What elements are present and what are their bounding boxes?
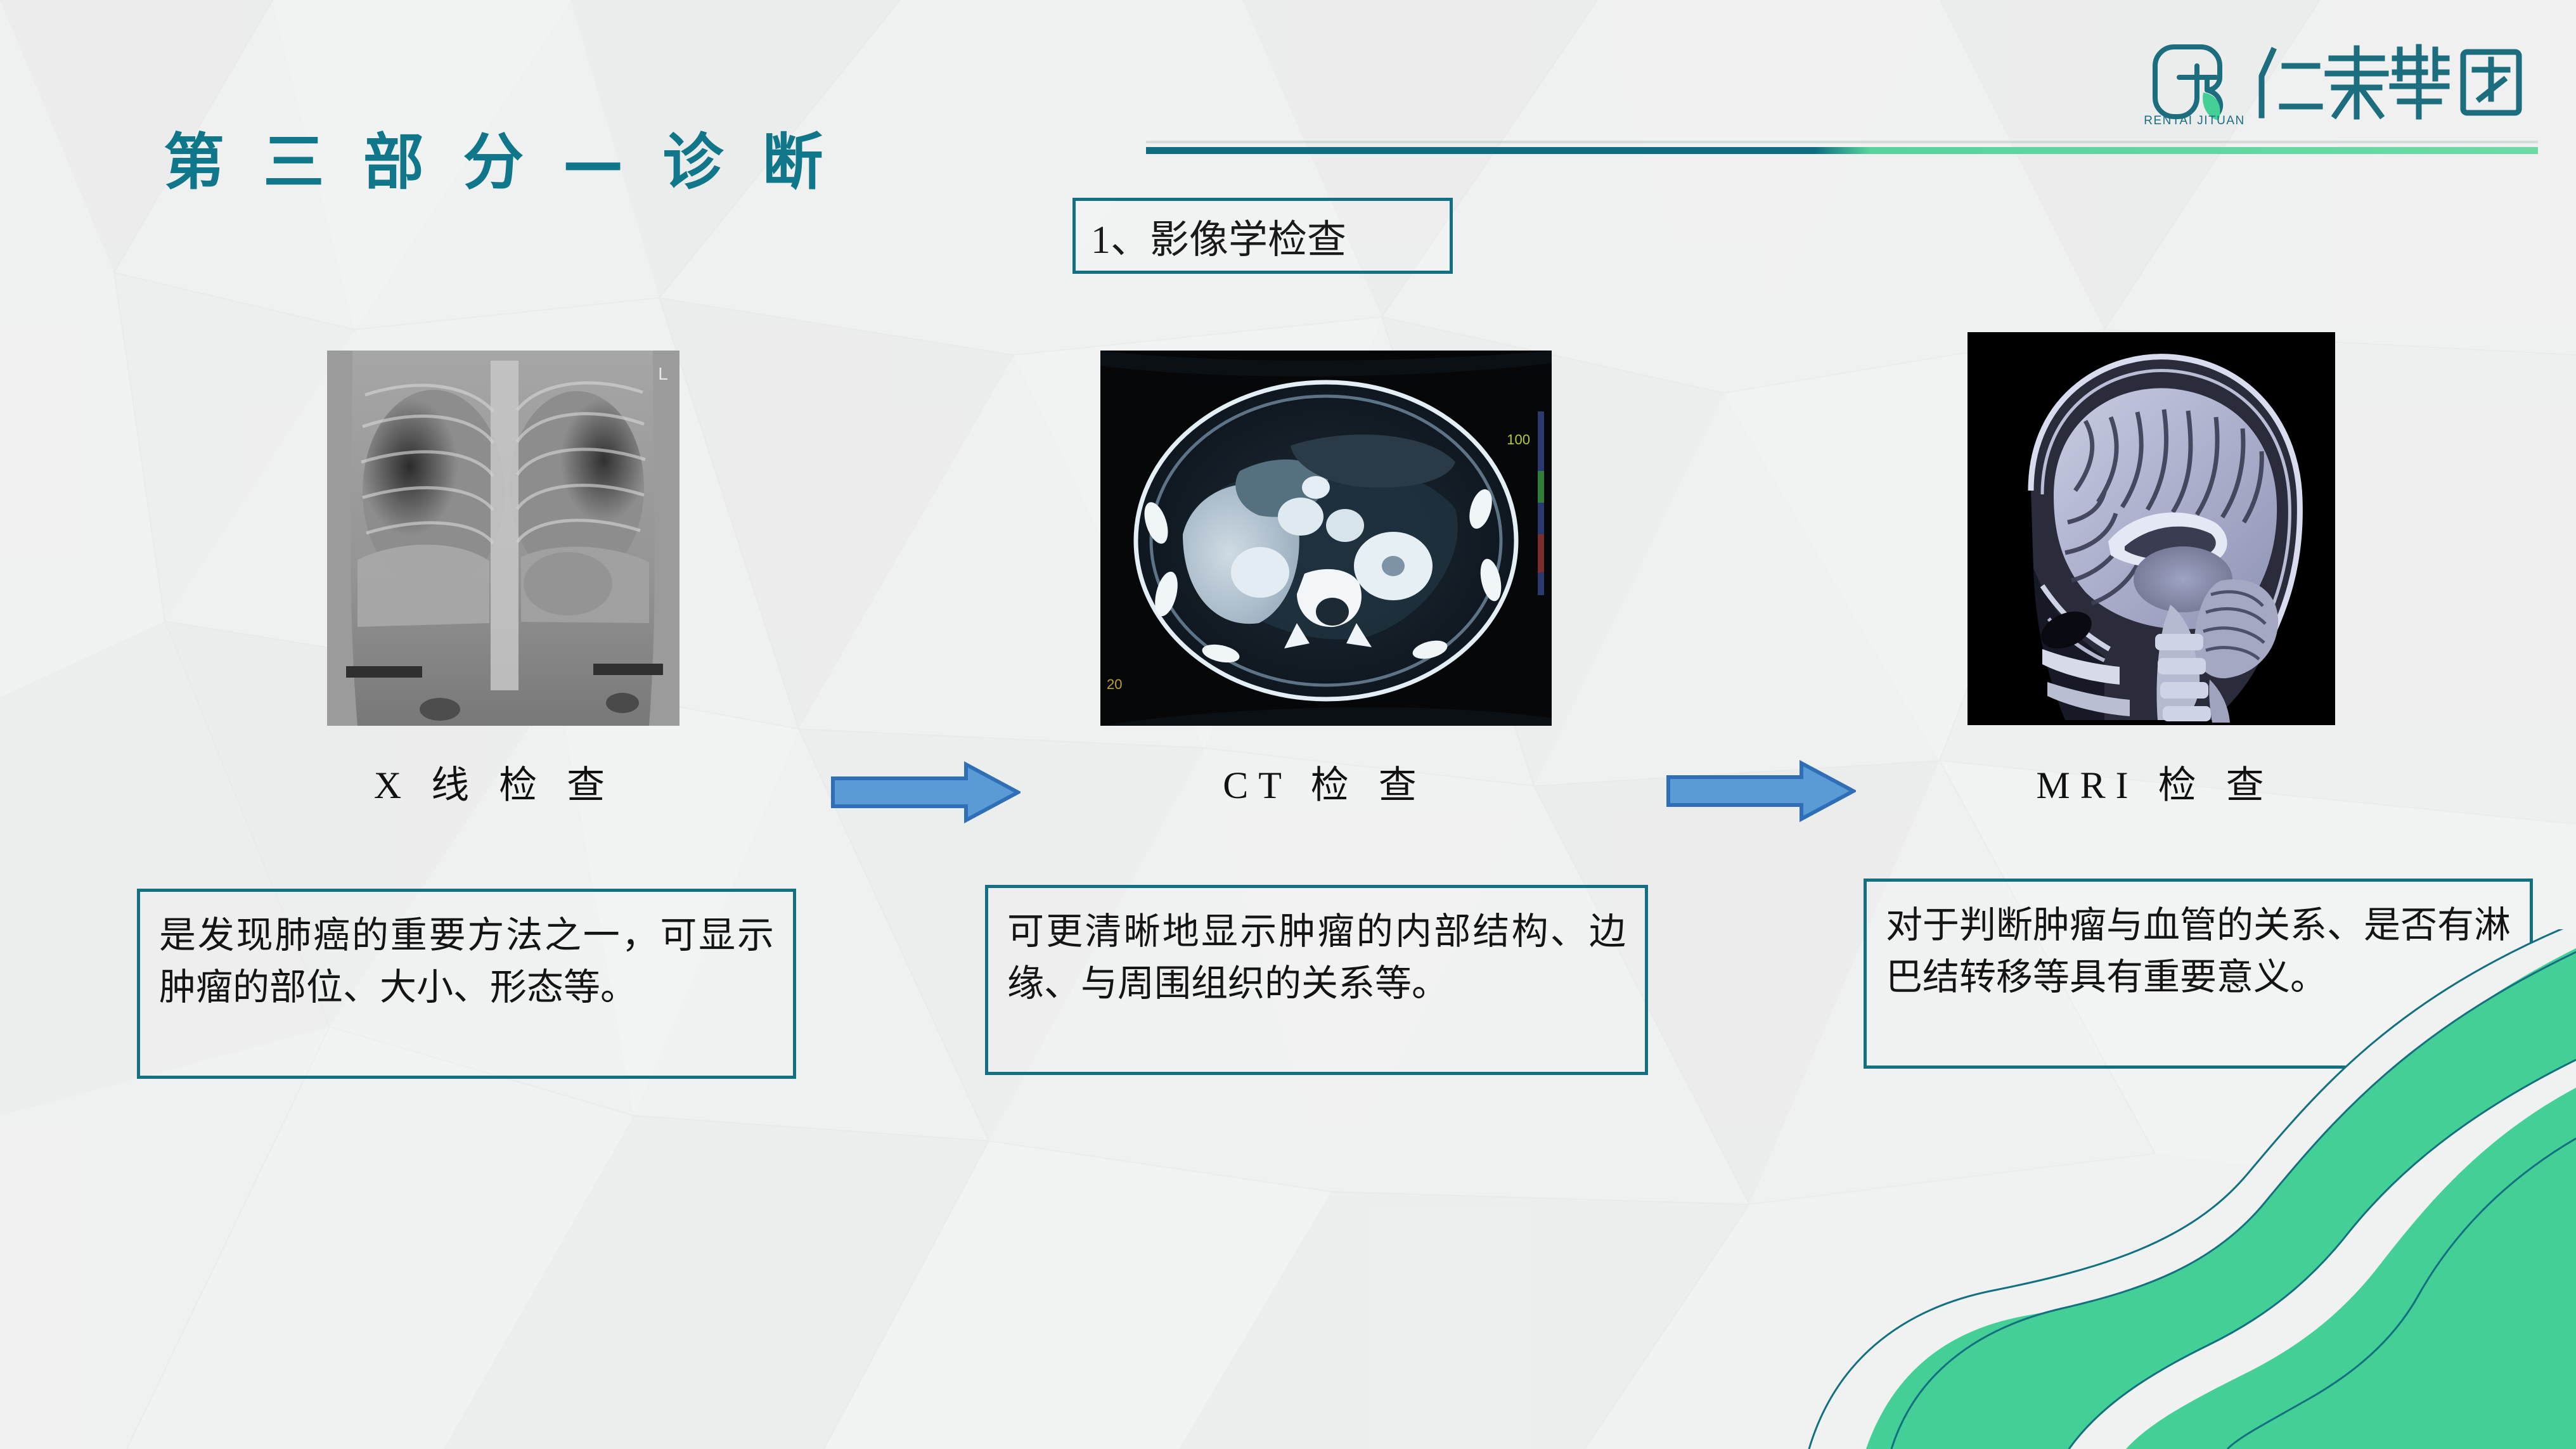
brain-mri-sagittal-thumbnail	[1967, 332, 2335, 725]
xray-side-marker: L	[658, 364, 668, 383]
description-box-xray: 是发现肺癌的重要方法之一，可显示肿瘤的部位、大小、形态等。	[137, 889, 796, 1079]
abdominal-ct-thumbnail: 100 20	[1100, 351, 1552, 726]
description-box-ct: 可更清晰地显示肿瘤的内部结构、边缘、与周围组织的关系等。	[985, 885, 1648, 1075]
caption-mri: MRI 检 查	[1902, 754, 2409, 809]
slide-canvas: 第 三 部 分 — 诊 断 RENTAI JITUAN	[0, 0, 2576, 1449]
header-rule	[1146, 147, 2538, 154]
page-title: 第 三 部 分 — 诊 断	[164, 113, 832, 201]
flow-arrow-ct-to-mri	[1666, 759, 1856, 823]
description-box-mri: 对于判断肿瘤与血管的关系、是否有淋巴结转移等具有重要意义。	[1864, 879, 2533, 1069]
description-text-xray: 是发现肺癌的重要方法之一，可显示肿瘤的部位、大小、形态等。	[159, 910, 774, 1014]
flow-arrow-xray-to-ct	[830, 761, 1021, 824]
subsection-label: 1、影像学检查	[1076, 207, 1346, 264]
chest-xray-thumbnail: L	[327, 351, 679, 726]
logo-wordmark-icon	[2257, 41, 2525, 123]
description-text-ct: 可更清晰地显示肿瘤的内部结构、边缘、与周围组织的关系等。	[1007, 906, 1626, 1010]
caption-xray: X 线 检 查	[241, 754, 748, 809]
description-text-mri: 对于判断肿瘤与血管的关系、是否有淋巴结转移等具有重要意义。	[1886, 899, 2511, 1004]
brand-logo: RENTAI JITUAN	[2145, 38, 2525, 133]
ct-corner-marker: 20	[1107, 676, 1122, 692]
subsection-label-box: 1、影像学检查	[1072, 198, 1453, 274]
caption-ct: CT 检 查	[1116, 754, 1534, 809]
logo-romanization: RENTAI JITUAN	[2144, 114, 2245, 128]
ct-window-marker: 100	[1507, 432, 1530, 448]
header-rule-shadow	[1146, 141, 2538, 143]
